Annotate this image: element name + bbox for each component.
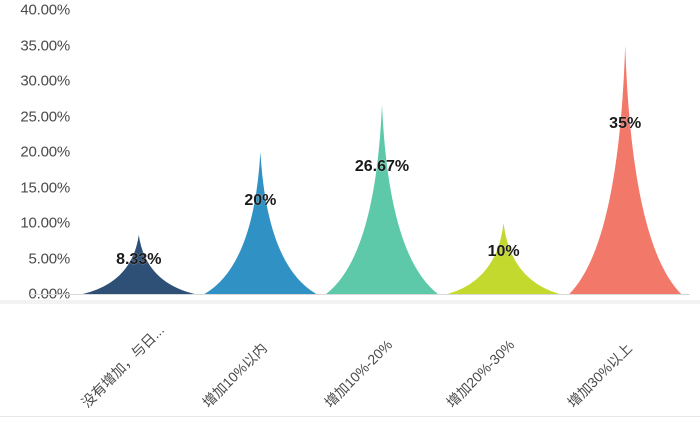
x-axis-tick-label: 没有增加，与日... (77, 320, 169, 412)
data-label: 35% (609, 115, 641, 133)
y-axis-tick-label: 20.00% (0, 144, 70, 161)
y-axis-tick-label: 30.00% (0, 73, 70, 90)
x-axis-tick-label: 增加20%-30% (441, 335, 518, 412)
x-axis-line (30, 294, 690, 295)
y-axis-tick-label: 25.00% (0, 108, 70, 125)
data-label: 20% (244, 192, 276, 210)
y-axis-tick-label: 40.00% (0, 2, 70, 19)
y-axis-tick-label: 5.00% (0, 250, 70, 267)
data-label: 26.67% (355, 158, 409, 176)
chart-container: 0.00%5.00%10.00%15.00%20.00%25.00%30.00%… (0, 0, 700, 424)
plot-area (78, 10, 686, 294)
y-axis: 0.00%5.00%10.00%15.00%20.00%25.00%30.00%… (0, 0, 78, 300)
x-axis-tick-label: 增加30%以上 (563, 338, 637, 412)
y-axis-tick-label: 15.00% (0, 179, 70, 196)
x-axis: 没有增加，与日...增加10%以内增加10%-20%增加20%-30%增加30%… (0, 300, 700, 424)
data-label: 10% (488, 243, 520, 261)
y-axis-tick-label: 10.00% (0, 215, 70, 232)
cone-bar[interactable] (569, 46, 681, 295)
x-axis-tick-label: 增加10%-20% (320, 335, 397, 412)
cone-series-svg (78, 10, 686, 294)
cone-bar[interactable] (326, 105, 438, 294)
data-label: 8.33% (116, 251, 161, 269)
cone-bar[interactable] (204, 152, 316, 294)
x-axis-tick-label: 增加10%以内 (198, 338, 272, 412)
y-axis-tick-label: 35.00% (0, 37, 70, 54)
